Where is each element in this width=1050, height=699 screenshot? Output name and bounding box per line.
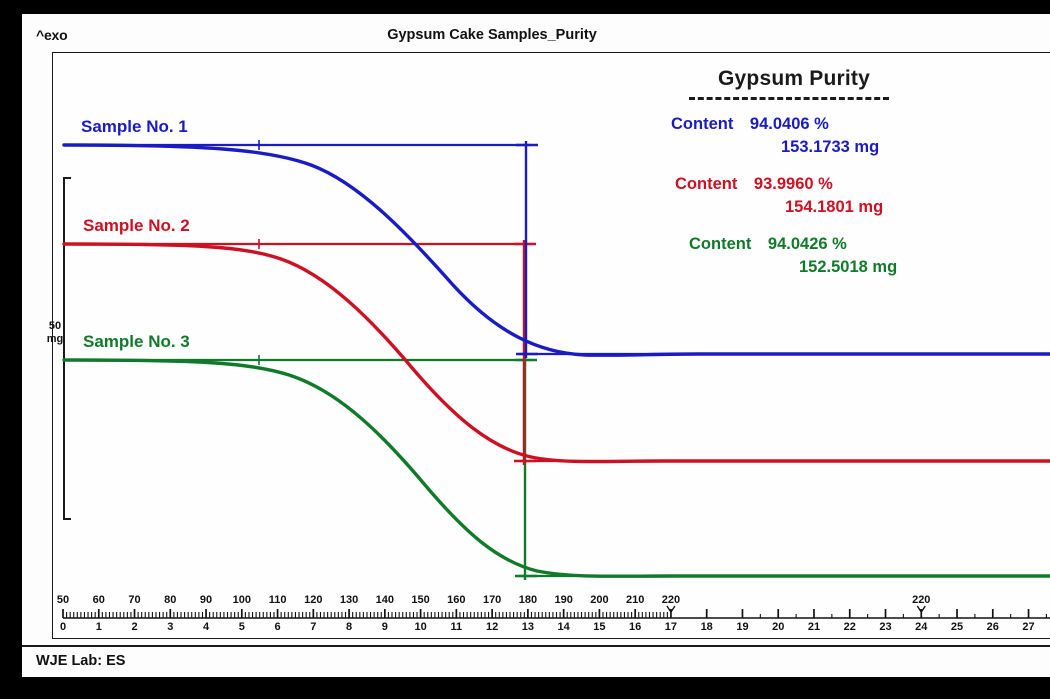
legend-percent-2: 93.9960 % — [754, 173, 833, 196]
x-axis-temperature-tick: 210 — [626, 594, 644, 606]
x-axis-time-tick: 17 — [665, 621, 677, 633]
x-axis-time-tick: 16 — [629, 621, 641, 633]
lab-identifier: WJE Lab: ES — [36, 653, 125, 669]
x-axis-time-tick: 5 — [239, 621, 245, 633]
x-axis-time-tick: 11 — [451, 621, 463, 633]
screenshot-root: ^exo Gypsum Cake Samples_Purity — [0, 0, 1050, 699]
legend-mass-2: 154.1801 mg — [785, 196, 979, 219]
legend-label-2: Content — [675, 173, 737, 196]
results-legend: Gypsum Purity Content 94.0406 % 153.1733… — [649, 67, 979, 280]
series-sample-3 — [64, 349, 1050, 580]
legend-mass-3: 152.5018 mg — [799, 256, 979, 279]
y-scalebar-value: 50 — [49, 320, 61, 332]
x-axis-temperature-tick: 190 — [554, 594, 572, 606]
x-axis-temperature-tick: 220 — [662, 594, 680, 606]
chart-header: ^exo Gypsum Cake Samples_Purity — [22, 22, 1050, 52]
x-axis-time-tick: 1 — [96, 621, 102, 633]
x-axis-time-tick: 9 — [382, 621, 388, 633]
x-axis-time-tick: 7 — [310, 621, 316, 633]
y-scalebar-bracket — [64, 178, 71, 519]
x-axis-time-tick: 26 — [987, 621, 999, 633]
legend-label-1: Content — [671, 113, 733, 136]
x-axis-temperature-tick: 180 — [519, 594, 537, 606]
x-axis-time-tick: 22 — [844, 621, 856, 633]
legend-divider — [689, 97, 889, 100]
x-axis-area: 0123456789101112131415161718192021222324… — [52, 594, 1050, 640]
x-axis-time-tick: 15 — [593, 621, 605, 633]
series-label-sample-1: Sample No. 1 — [81, 117, 188, 137]
x-axis-temperature-tick: 120 — [304, 594, 322, 606]
x-axis-temperature-tick: 100 — [233, 594, 251, 606]
series-label-sample-2: Sample No. 2 — [83, 216, 190, 236]
x-axis-temperature-tick: 110 — [269, 594, 287, 606]
x-axis-time-tick: 25 — [951, 621, 963, 633]
x-axis-time-tick: 18 — [701, 621, 713, 633]
x-axis-temperature-tick: 160 — [447, 594, 465, 606]
x-axis-temperature-tick: 200 — [590, 594, 608, 606]
x-axis-time-tick: 3 — [167, 621, 173, 633]
legend-row-sample-3: Content 94.0426 % 152.5018 mg — [689, 233, 979, 280]
y-scalebar-unit: mg — [47, 333, 64, 345]
legend-row-sample-1: Content 94.0406 % 153.1733 mg — [671, 113, 979, 160]
x-axis-time-tick: 14 — [558, 621, 570, 633]
page-title: Gypsum Cake Samples_Purity — [22, 27, 962, 43]
x-axis-time-tick: 24 — [915, 621, 927, 633]
legend-title: Gypsum Purity — [649, 67, 939, 91]
x-axis-time-tick: 13 — [522, 621, 534, 633]
x-axis-temperature-tick: 170 — [483, 594, 501, 606]
legend-mass-1: 153.1733 mg — [781, 136, 979, 159]
legend-row-sample-2: Content 93.9960 % 154.1801 mg — [675, 173, 979, 220]
x-axis-time-tick: 20 — [772, 621, 784, 633]
x-axis-temperature-tick: 50 — [57, 594, 69, 606]
x-axis-temperature-tick: 150 — [411, 594, 429, 606]
series-label-sample-3: Sample No. 3 — [83, 332, 190, 352]
plot-area: Sample No. 1 Sample No. 2 Sample No. 3 G… — [52, 52, 1050, 639]
x-axis-temperature-tick: 90 — [200, 594, 212, 606]
x-axis-time-tick: 19 — [736, 621, 748, 633]
x-axis-time-tick: 8 — [346, 621, 352, 633]
x-axis-time-tick: 12 — [486, 621, 498, 633]
x-axis-temperature-tick: 220 — [912, 594, 930, 606]
x-axis-time-tick: 21 — [808, 621, 820, 633]
x-axis-temperature-tick: 140 — [376, 594, 394, 606]
legend-percent-3: 94.0426 % — [768, 233, 847, 256]
x-axis-time-tick: 23 — [879, 621, 891, 633]
x-axis-time-tick: 2 — [131, 621, 137, 633]
x-axis-time-tick: 6 — [275, 621, 281, 633]
legend-percent-1: 94.0406 % — [750, 113, 829, 136]
x-axis-temperature-tick: 60 — [93, 594, 105, 606]
x-axis-time-tick: 10 — [414, 621, 426, 633]
x-axis-temperature-tick: 130 — [340, 594, 358, 606]
footer-bar: WJE Lab: ES — [22, 645, 1050, 677]
x-axis-temperature-tick: 80 — [164, 594, 176, 606]
legend-label-3: Content — [689, 233, 751, 256]
x-axis-temperature-tick: 70 — [128, 594, 140, 606]
x-axis-time-tick: 4 — [203, 621, 209, 633]
x-axis-time-tick: 0 — [60, 621, 66, 633]
x-axis-time-tick: 27 — [1022, 621, 1034, 633]
y-scalebar-label: 50 mg — [42, 320, 68, 345]
